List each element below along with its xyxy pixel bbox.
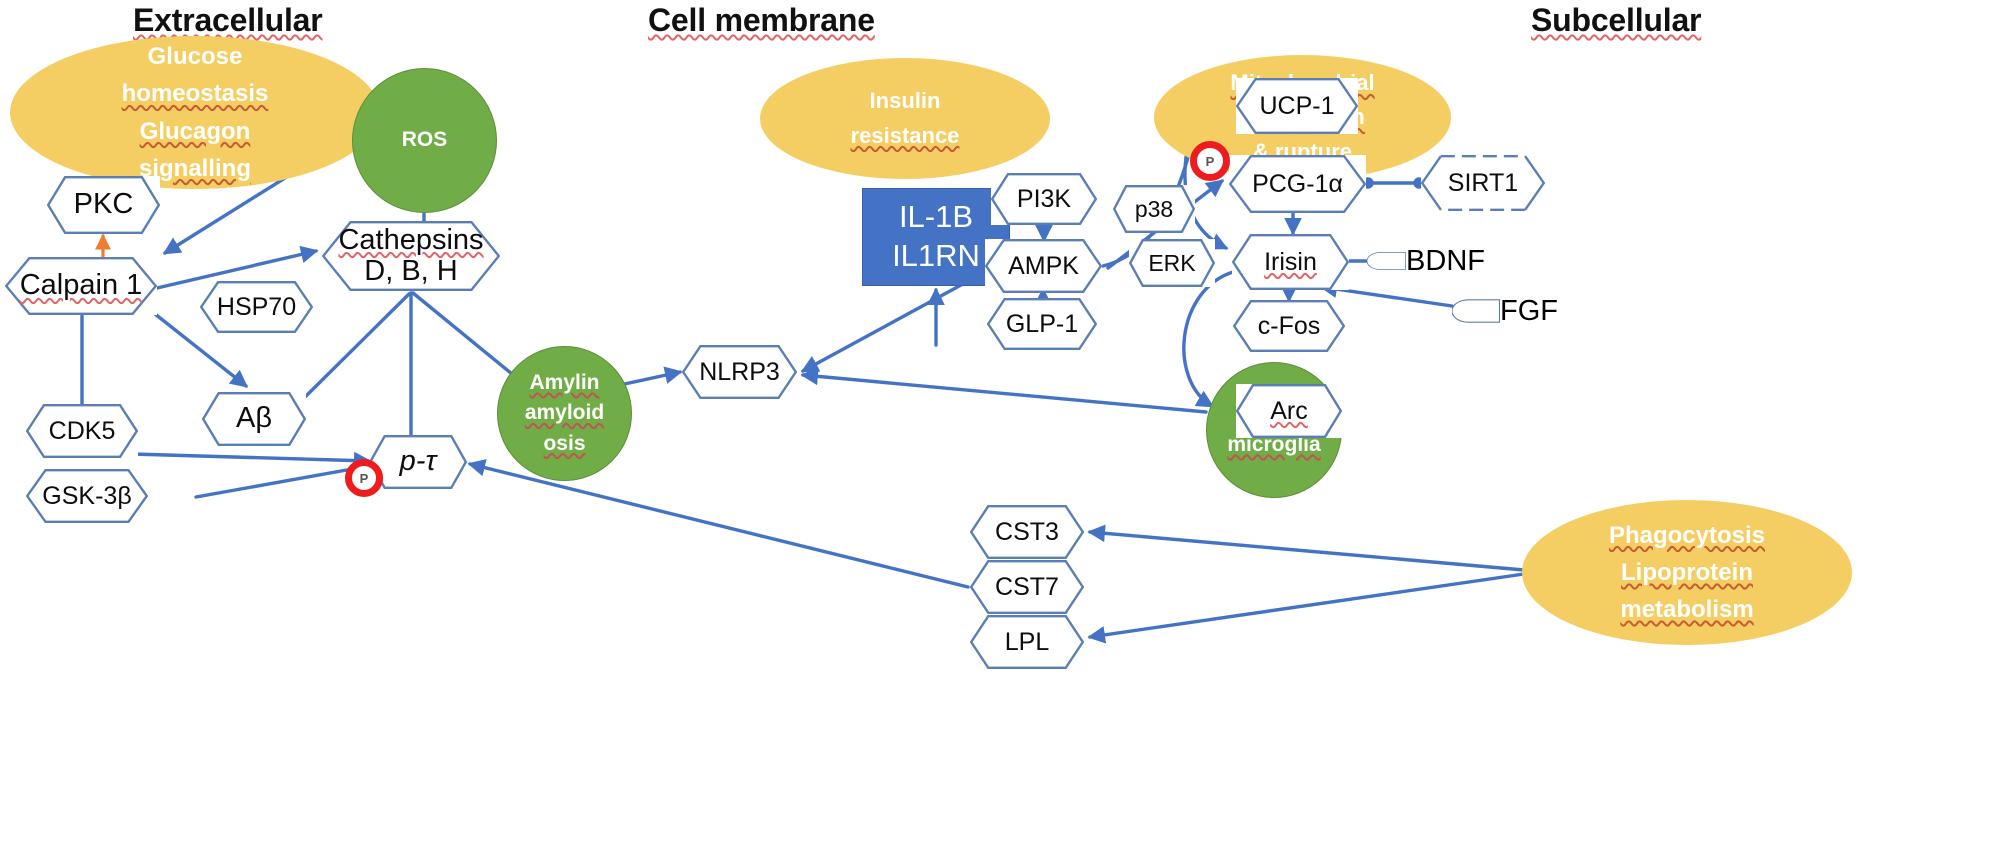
shape-label-line: PKC: [74, 189, 134, 220]
shape-label-line: HSP70: [217, 294, 296, 321]
shape-label-line: homeostasis: [122, 75, 269, 112]
shape-label-line: Irisin: [1264, 249, 1317, 276]
hex-pi3k[interactable]: PI3K: [991, 173, 1097, 225]
delay-outline: [1367, 234, 1406, 288]
section-title-cell-membrane: Cell membrane: [648, 2, 875, 39]
shape-label-line: UCP-1: [1259, 93, 1334, 120]
hex-label-erk: ERK: [1144, 251, 1199, 276]
hex-ampk[interactable]: AMPK: [985, 239, 1102, 293]
hex-cst7[interactable]: CST7: [970, 560, 1084, 614]
hex-label-abeta: Aβ: [232, 403, 276, 434]
shape-label-line: Insulin: [870, 84, 941, 118]
pathway-diagram-canvas: Extracellular Cell membrane Subcellular …: [0, 0, 2000, 853]
shape-label-line: Amylin: [529, 368, 599, 398]
section-title-extracellular: Extracellular: [133, 2, 323, 39]
hex-sirt1[interactable]: SIRT1: [1421, 155, 1545, 211]
hex-label-ucp1: UCP-1: [1255, 93, 1338, 120]
hex-label-cdk5: CDK5: [45, 418, 120, 445]
hex-label-pcg1a: PCG-1α: [1248, 171, 1347, 198]
edge-amylin-nlrp3: [620, 372, 680, 385]
hex-erk[interactable]: ERK: [1129, 239, 1215, 287]
hex-label-cst7: CST7: [991, 574, 1063, 601]
ellipse-insulin-resistance: Insulinresistance: [760, 58, 1050, 179]
shape-label-line: ERK: [1148, 251, 1195, 276]
hex-lpl[interactable]: LPL: [970, 615, 1084, 669]
hex-p-tau[interactable]: p-τ: [369, 435, 467, 489]
shape-label-line: Cathepsins: [338, 225, 483, 256]
hex-cathepsins[interactable]: CathepsinsD, B, H: [322, 221, 500, 291]
hex-c-fos[interactable]: c-Fos: [1233, 300, 1345, 352]
delay-outline: [1452, 285, 1500, 337]
hex-pcg1a[interactable]: PCG-1α: [1229, 155, 1366, 213]
shape-label-line: osis: [543, 429, 585, 459]
edge-cathepsins-abeta: [304, 294, 409, 398]
circle-amylin-amyloidosis: Amylinamyloidosis: [497, 346, 632, 481]
hex-label-cathepsins: CathepsinsD, B, H: [334, 225, 487, 288]
shape-label-line: amyloid: [525, 398, 604, 428]
shape-label-line: IL-1B: [899, 198, 973, 237]
delay-bdnf[interactable]: BDNF: [1367, 234, 1485, 288]
edge-ampk-nlrp3: [803, 272, 985, 371]
shape-label-line: GSK-3β: [42, 483, 131, 510]
delay-label-bdnf: BDNF: [1406, 245, 1485, 278]
hex-label-hsp70: HSP70: [213, 294, 300, 321]
hex-gsk3b[interactable]: GSK-3β: [26, 469, 148, 523]
hex-label-nlrp3: NLRP3: [695, 359, 784, 386]
shape-label-line: PCG-1α: [1252, 171, 1343, 198]
shape-label-line: p-τ: [400, 446, 437, 477]
shape-label-line: Glucose: [148, 38, 243, 75]
shape-label-line: Phagocytosis: [1609, 517, 1765, 554]
shape-label-line: c-Fos: [1258, 313, 1321, 340]
shape-label-line: D, B, H: [338, 256, 483, 287]
hex-irisin[interactable]: Irisin: [1232, 234, 1349, 290]
phospho-pcg1a: P: [1190, 141, 1230, 181]
delay-fgf[interactable]: FGF: [1452, 285, 1558, 337]
shape-label-line: CST7: [995, 574, 1059, 601]
hex-cst3[interactable]: CST3: [970, 505, 1084, 559]
section-title-subcellular: Subcellular: [1531, 2, 1701, 39]
hex-label-arc: Arc: [1266, 398, 1312, 425]
edge-cst7-ptau: [470, 464, 968, 587]
hex-cdk5[interactable]: CDK5: [26, 404, 138, 458]
phospho-p-tau: P: [345, 459, 383, 497]
hex-abeta[interactable]: Aβ: [202, 392, 306, 446]
edge-gsk3b-ptau: [196, 466, 369, 497]
shape-label-line: CST3: [995, 519, 1059, 546]
hex-label-lpl: LPL: [1001, 629, 1053, 656]
shape-label-line: Arc: [1270, 398, 1308, 425]
hex-label-p38: p38: [1131, 197, 1177, 222]
hex-label-cst3: CST3: [991, 519, 1063, 546]
shape-label-line: Calpain 1: [20, 270, 143, 301]
hex-label-pkc: PKC: [70, 189, 138, 220]
edge-phago-lpl: [1090, 574, 1524, 637]
hex-nlrp3[interactable]: NLRP3: [682, 345, 797, 399]
hex-calpain1[interactable]: Calpain 1: [5, 257, 157, 315]
hex-label-calpain1: Calpain 1: [16, 270, 147, 301]
hex-label-p-tau: p-τ: [396, 446, 441, 477]
delay-label-fgf: FGF: [1500, 295, 1558, 328]
hex-glp1[interactable]: GLP-1: [987, 298, 1097, 350]
shape-label-line: CDK5: [49, 418, 116, 445]
shape-label-line: NLRP3: [699, 359, 780, 386]
shape-label-line: Aβ: [236, 403, 272, 434]
shape-label-line: LPL: [1005, 629, 1049, 656]
hex-label-glp1: GLP-1: [1002, 311, 1082, 338]
hex-label-irisin: Irisin: [1260, 249, 1321, 276]
shape-label-line: p38: [1135, 197, 1173, 222]
hex-label-sirt1: SIRT1: [1444, 170, 1522, 197]
hex-label-ampk: AMPK: [1004, 253, 1083, 280]
hex-label-gsk3b: GSK-3β: [38, 483, 135, 510]
hex-ucp1[interactable]: UCP-1: [1236, 78, 1358, 134]
hex-pkc[interactable]: PKC: [47, 176, 160, 234]
hex-label-pi3k: PI3K: [1013, 186, 1075, 213]
edge-phago-cst3: [1090, 532, 1524, 570]
shape-label-line: Glucagon: [140, 113, 251, 150]
hex-arc[interactable]: Arc: [1236, 384, 1342, 438]
shape-label-line: Lipoprotein: [1621, 554, 1753, 591]
shape-label-line: IL1RN: [892, 237, 980, 276]
shape-label-line: GLP-1: [1006, 311, 1078, 338]
circle-ros: ROS: [352, 68, 497, 213]
hex-label-c-fos: c-Fos: [1254, 313, 1325, 340]
shape-label-line: resistance: [851, 119, 960, 153]
edge-cdk5-ptau: [132, 454, 369, 461]
shape-label-line: ROS: [402, 125, 448, 155]
shape-label-line: PI3K: [1017, 186, 1071, 213]
edge-cathepsins-amylin: [413, 293, 512, 374]
edge-dams-nlrp3: [803, 375, 1206, 412]
shape-label-line: metabolism: [1620, 591, 1753, 628]
hex-p38[interactable]: p38: [1113, 185, 1195, 233]
shape-label-line: AMPK: [1008, 253, 1079, 280]
hex-hsp70[interactable]: HSP70: [200, 281, 313, 333]
shape-label-line: SIRT1: [1448, 170, 1518, 197]
ellipse-phagocytosis-lipoprotein: PhagocytosisLipoproteinmetabolism: [1522, 500, 1852, 645]
ellipse-glucose-homeostasis: GlucosehomeostasisGlucagonsignalling: [10, 36, 380, 189]
